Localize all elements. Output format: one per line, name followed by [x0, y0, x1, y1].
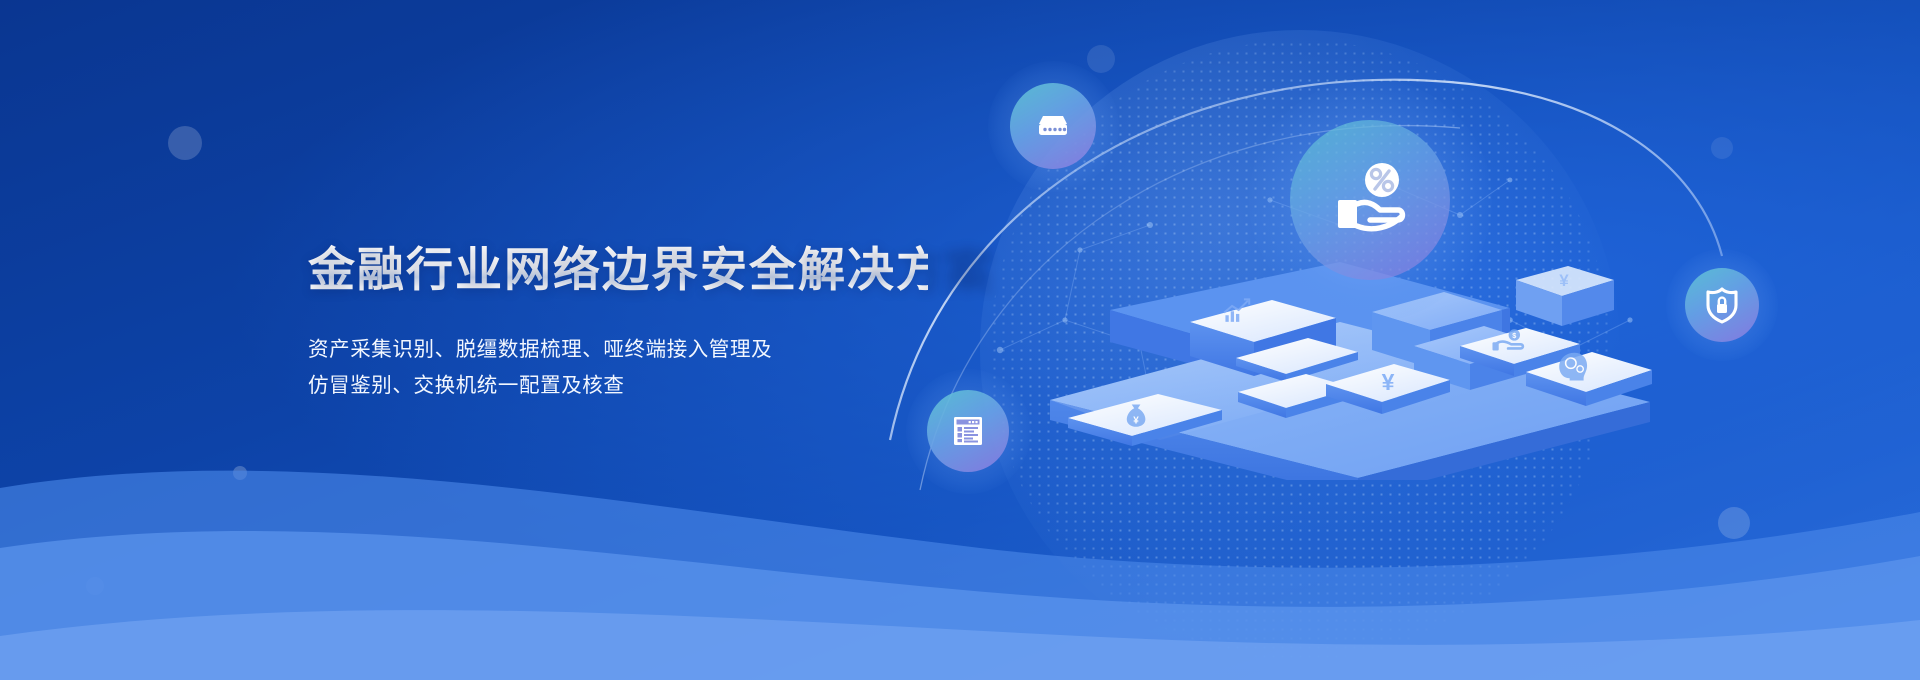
- finance-network-security-banner: ¥: [0, 0, 1920, 680]
- percent-hand-icon-badge: [1249, 79, 1492, 322]
- decorative-dot-1: [168, 126, 202, 160]
- svg-text:$: $: [1512, 331, 1516, 340]
- percent-hand-icon: [1322, 152, 1418, 248]
- tile-yen-top: ¥: [1516, 266, 1614, 326]
- banner-subtitle: 资产采集识别、脱缰数据梳理、哑终端接入管理及 仿冒鉴别、交换机统一配置及核查: [308, 332, 928, 404]
- banner-subtitle-line-2: 仿冒鉴别、交换机统一配置及核查: [308, 368, 928, 404]
- server-icon-badge: [988, 61, 1119, 192]
- yen-symbol-icon-top: ¥: [1559, 271, 1569, 290]
- shield-lock-icon-badge: [1666, 249, 1778, 361]
- server-icon: [1031, 104, 1075, 148]
- document-list-icon: [946, 409, 990, 453]
- banner-subtitle-line-1: 资产采集识别、脱缰数据梳理、哑终端接入管理及: [308, 332, 928, 368]
- banner-title: 金融行业网络边界安全解决方案: [308, 240, 928, 300]
- shield-lock-icon: [1702, 285, 1742, 325]
- banner-copy: 金融行业网络边界安全解决方案 资产采集识别、脱缰数据梳理、哑终端接入管理及 仿冒…: [308, 240, 928, 404]
